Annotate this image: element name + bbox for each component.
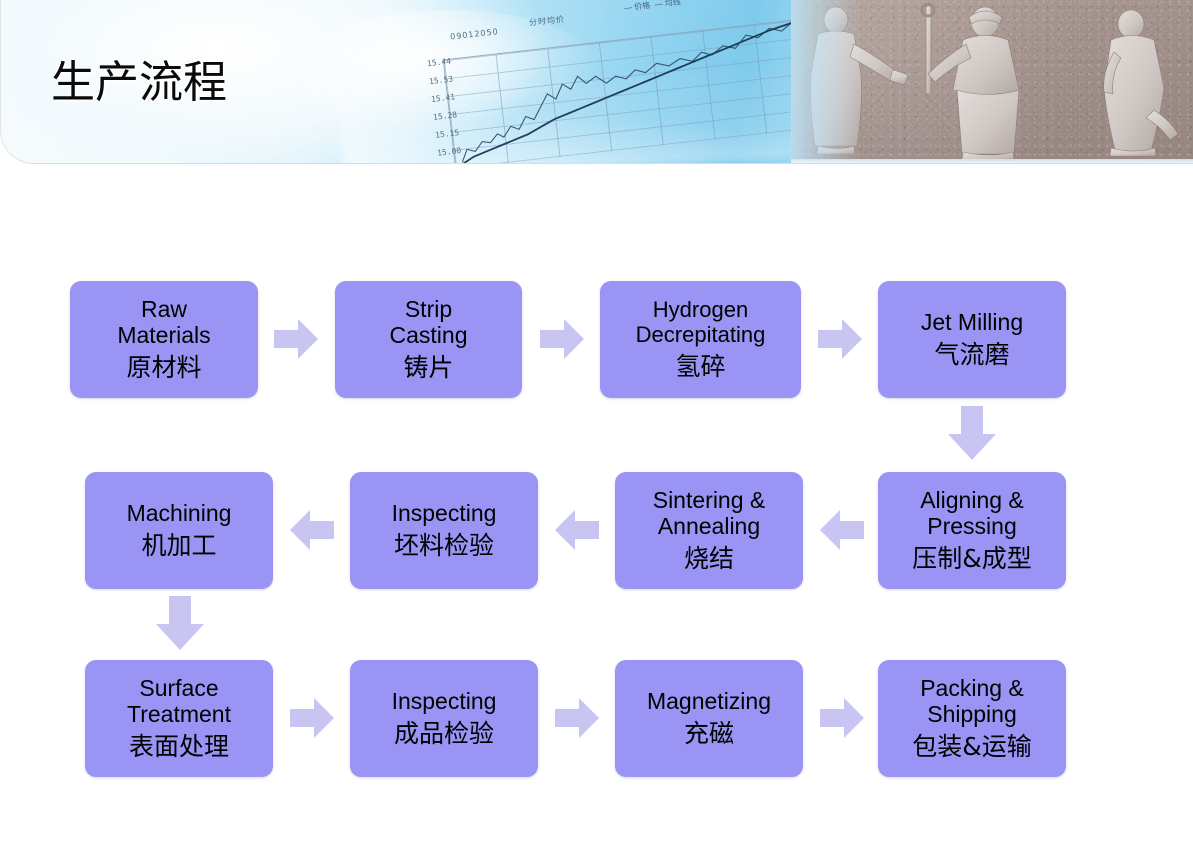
arrow-left-1: [288, 507, 336, 553]
stone-relief-left-fade: [791, 0, 861, 163]
arrow-right-6: [818, 695, 866, 741]
flow-node-machining[interactable]: Machining 机加工: [85, 472, 273, 589]
page-title: 生产流程: [51, 46, 227, 110]
production-flowchart: Raw Materials 原材料 Strip Casting 铸片 Hydro…: [0, 164, 1193, 865]
flow-node-strip-casting[interactable]: Strip Casting 铸片: [335, 281, 522, 398]
header-banner: 15.44 15.53 15.41 15.28 15.15 15.00 0901…: [0, 0, 1193, 164]
flow-node-label-en: Hydrogen Decrepitating: [636, 298, 766, 347]
flow-node-hydrogen-decrepitating[interactable]: Hydrogen Decrepitating 氢碎: [600, 281, 801, 398]
arrow-down-right-column: [944, 404, 1000, 462]
arrow-left-3: [818, 507, 866, 553]
flow-node-label-en: Magnetizing: [647, 689, 771, 715]
flow-node-label-en: Strip Casting: [390, 297, 468, 349]
flow-node-label-cn: 气流磨: [934, 341, 1009, 369]
flow-node-magnetizing[interactable]: Magnetizing 充磁: [615, 660, 803, 777]
arrow-right-5: [553, 695, 601, 741]
flow-node-label-cn: 压制&成型: [912, 545, 1032, 573]
flow-node-label-cn: 原材料: [126, 354, 201, 382]
flow-node-label-en: Sintering & Annealing: [653, 488, 766, 540]
stone-relief-bottom-edge: [791, 159, 1193, 163]
flow-node-label-cn: 铸片: [403, 354, 453, 382]
stock-chart-legend: — 价格 — 均线: [623, 0, 681, 14]
flow-node-label-cn: 氢碎: [675, 353, 725, 381]
stock-chart-lines: [443, 19, 813, 164]
flow-node-label-en: Inspecting: [392, 689, 497, 715]
flow-node-label-cn: 机加工: [141, 532, 216, 560]
flow-node-aligning-pressing[interactable]: Aligning & Pressing 压制&成型: [878, 472, 1066, 589]
arrow-down-left-column: [152, 594, 208, 652]
flow-node-label-en: Inspecting: [392, 501, 497, 527]
stone-relief-image: [791, 0, 1193, 163]
flow-node-packing-shipping[interactable]: Packing & Shipping 包装&运输: [878, 660, 1066, 777]
flow-node-sintering-annealing[interactable]: Sintering & Annealing 烧结: [615, 472, 803, 589]
flow-node-label-cn: 坯料检验: [394, 532, 494, 560]
stock-chart-top-label: 09012050: [450, 27, 499, 41]
flow-node-label-en: Packing & Shipping: [920, 676, 1024, 728]
flow-node-inspecting-blank[interactable]: Inspecting 坯料检验: [350, 472, 538, 589]
stock-chart-series-label: 分时均价: [529, 13, 566, 28]
arrow-left-2: [553, 507, 601, 553]
flow-node-label-cn: 充磁: [684, 720, 734, 748]
arrow-right-4: [288, 695, 336, 741]
flow-node-surface-treatment[interactable]: Surface Treatment 表面处理: [85, 660, 273, 777]
flow-node-label-cn: 成品检验: [394, 720, 494, 748]
flow-node-jet-milling[interactable]: Jet Milling 气流磨: [878, 281, 1066, 398]
stock-chart-image: 15.44 15.53 15.41 15.28 15.15 15.00 0901…: [399, 0, 819, 164]
flow-node-label-en: Jet Milling: [921, 310, 1023, 336]
flow-node-raw-materials[interactable]: Raw Materials 原材料: [70, 281, 258, 398]
flow-node-label-en: Surface Treatment: [127, 676, 231, 728]
flow-node-inspecting-final[interactable]: Inspecting 成品检验: [350, 660, 538, 777]
arrow-right-2: [538, 316, 586, 362]
flow-node-label-en: Raw Materials: [117, 297, 210, 349]
arrow-right-1: [272, 316, 320, 362]
flow-node-label-cn: 包装&运输: [912, 733, 1032, 761]
flow-node-label-cn: 烧结: [684, 545, 734, 573]
flow-node-label-cn: 表面处理: [129, 733, 229, 761]
arrow-right-3: [816, 316, 864, 362]
flow-node-label-en: Aligning & Pressing: [920, 488, 1024, 540]
flow-node-label-en: Machining: [127, 501, 232, 527]
